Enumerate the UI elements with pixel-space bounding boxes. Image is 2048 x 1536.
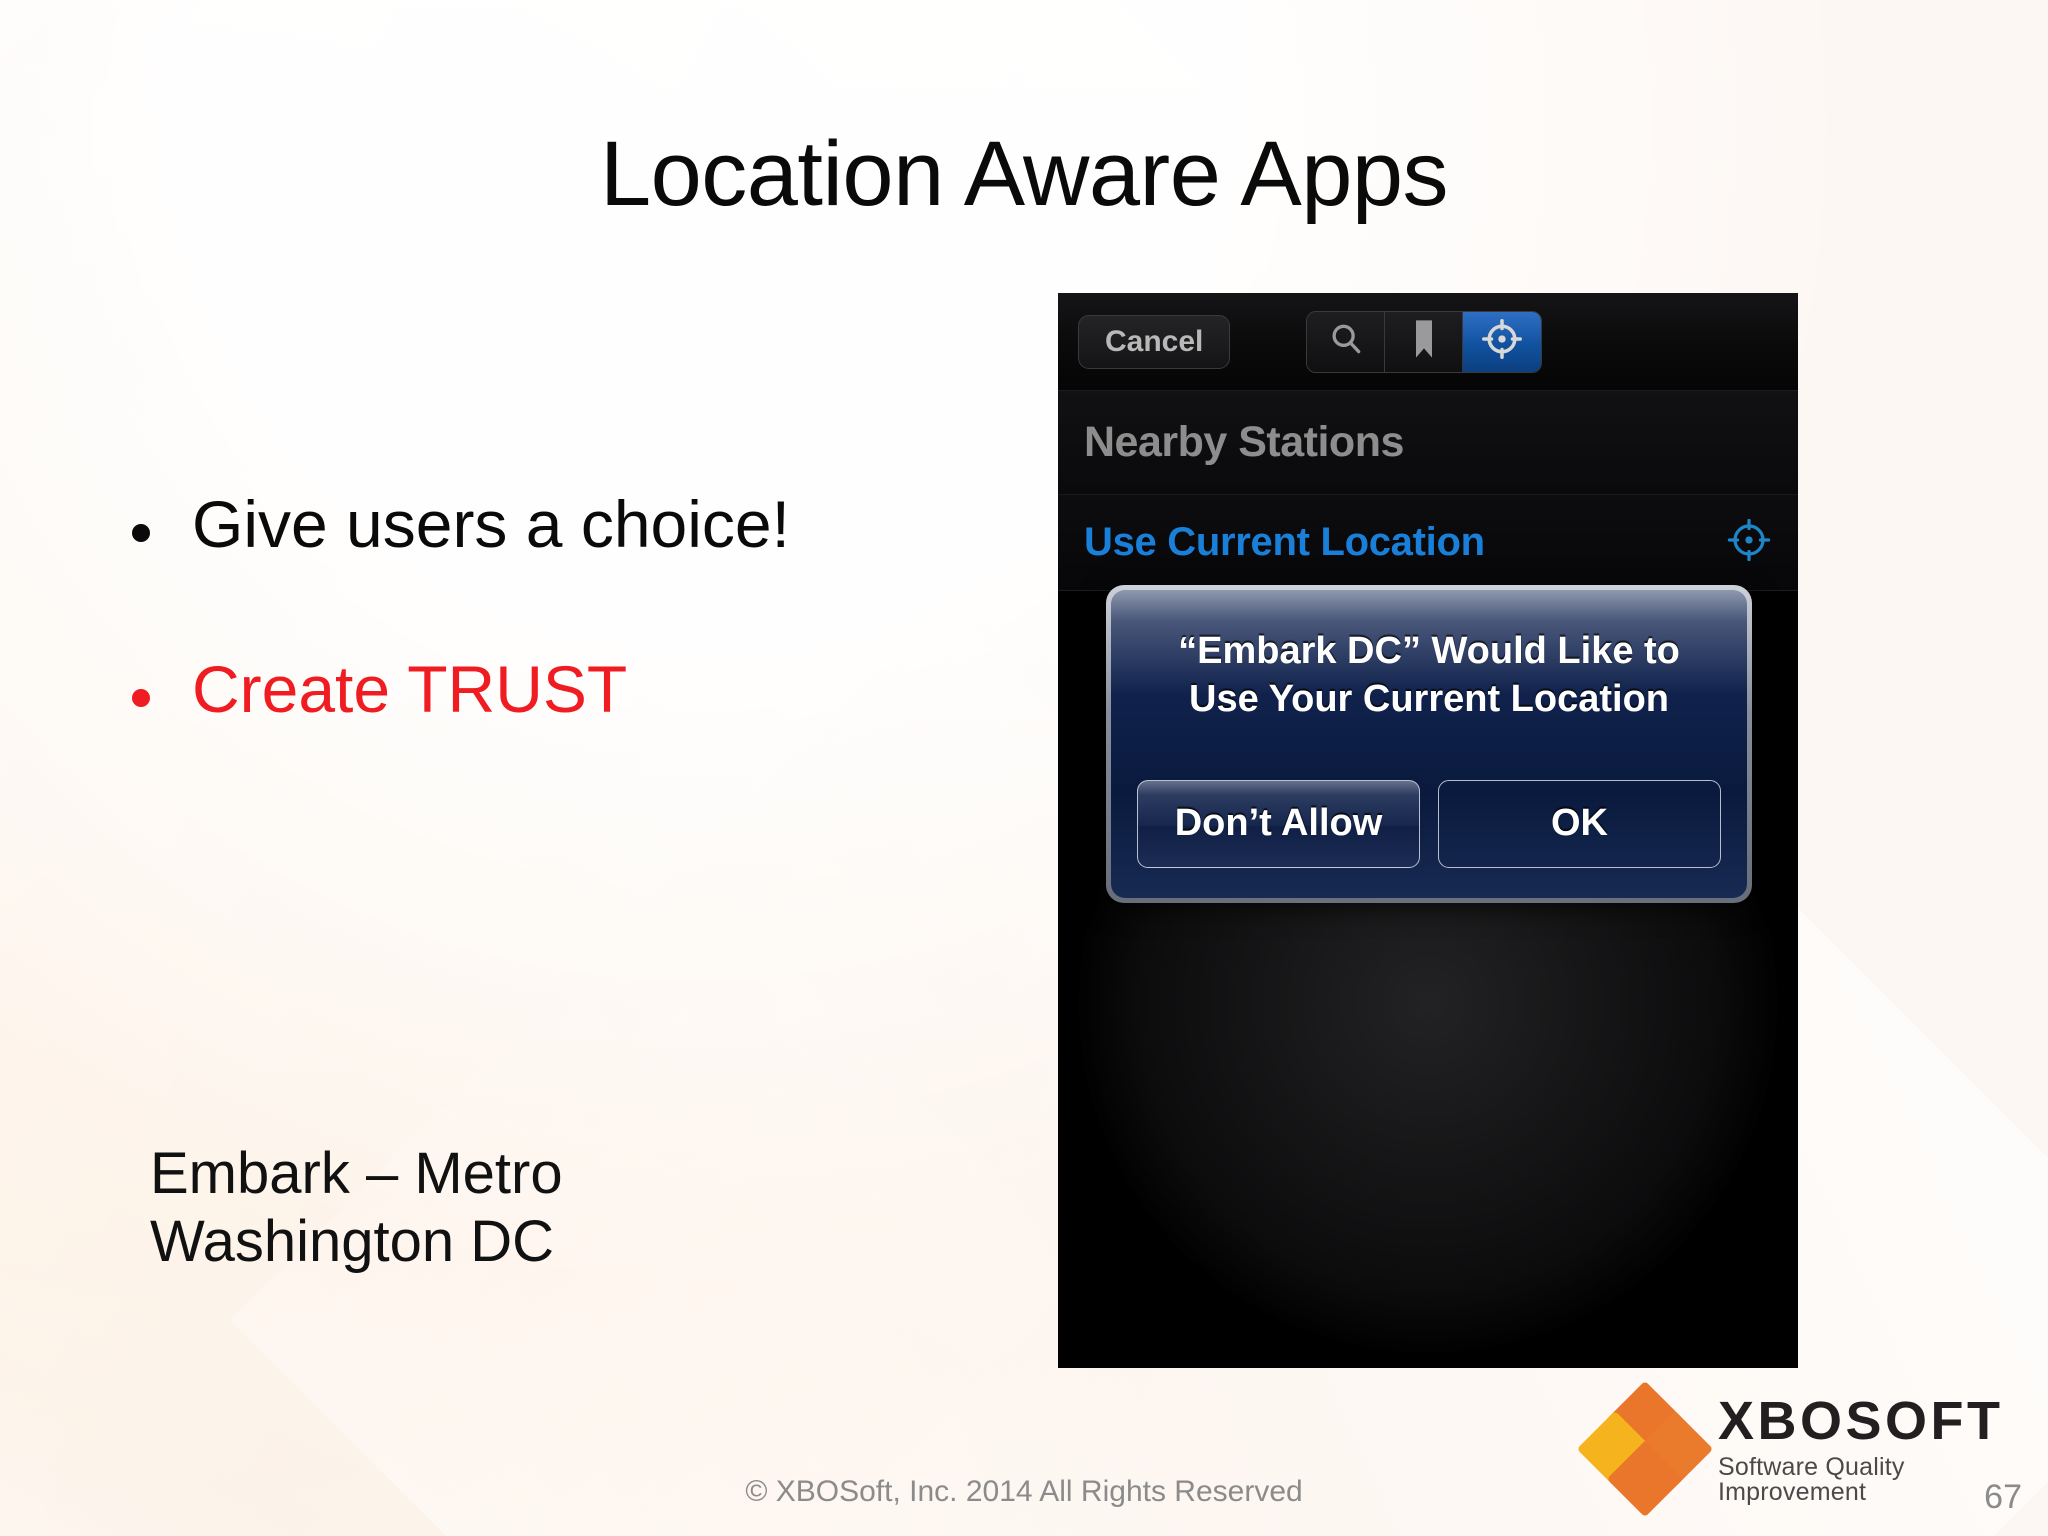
bullet-text-give-users-a-choice: Give users a choice!	[192, 490, 790, 559]
search-icon	[1327, 320, 1365, 363]
caption-line-1: Embark – Metro	[150, 1140, 563, 1208]
bullet-dot-icon	[132, 689, 150, 707]
crosshair-location-icon	[1481, 318, 1523, 365]
nearby-stations-title: Nearby Stations	[1084, 418, 1404, 467]
list-item: Give users a choice!	[132, 490, 1012, 559]
logo-wordmark: XBOSOFT Software Quality Improvement	[1718, 1394, 2048, 1505]
cancel-button[interactable]: Cancel	[1078, 315, 1230, 369]
alert-button-row: Don’t Allow OK	[1137, 780, 1721, 868]
phone-screenshot: Cancel	[1058, 293, 1798, 1368]
alert-message-line-1: “Embark DC” Would Like to	[1145, 628, 1713, 676]
bullet-list: Give users a choice! Create TRUST	[132, 490, 1012, 821]
xbosoft-diamond-icon	[1586, 1390, 1704, 1508]
alert-message-line-2: Use Your Current Location	[1145, 676, 1713, 724]
xbosoft-logo: XBOSOFT Software Quality Improvement	[1586, 1390, 2048, 1508]
segment-current-location[interactable]	[1463, 312, 1541, 372]
bullet-dot-icon	[132, 524, 150, 542]
nearby-stations-header: Nearby Stations	[1058, 391, 1798, 495]
use-current-location-row[interactable]: Use Current Location	[1058, 495, 1798, 591]
alert-body: “Embark DC” Would Like to Use Your Curre…	[1111, 590, 1747, 898]
crosshair-location-icon	[1726, 517, 1772, 568]
list-item: Create TRUST	[132, 655, 1012, 724]
logo-name: XBOSOFT	[1718, 1394, 2048, 1448]
segment-bookmarks[interactable]	[1385, 312, 1463, 372]
dont-allow-button[interactable]: Don’t Allow	[1137, 780, 1420, 868]
use-current-location-label: Use Current Location	[1084, 520, 1485, 565]
segment-search[interactable]	[1307, 312, 1385, 372]
segmented-control	[1306, 311, 1542, 373]
logo-tagline: Software Quality Improvement	[1718, 1455, 2048, 1505]
phone-toolbar: Cancel	[1058, 293, 1798, 391]
caption-line-2: Washington DC	[150, 1208, 563, 1276]
bullet-text-create-trust: Create TRUST	[192, 655, 627, 724]
page-title: Location Aware Apps	[0, 128, 2048, 220]
bookmark-icon	[1411, 319, 1437, 364]
image-caption: Embark – Metro Washington DC	[150, 1140, 563, 1277]
location-permission-alert: “Embark DC” Would Like to Use Your Curre…	[1106, 585, 1752, 903]
ok-button[interactable]: OK	[1438, 780, 1721, 868]
alert-message: “Embark DC” Would Like to Use Your Curre…	[1137, 624, 1721, 724]
slide-canvas: Location Aware Apps Give users a choice!…	[0, 0, 2048, 1536]
